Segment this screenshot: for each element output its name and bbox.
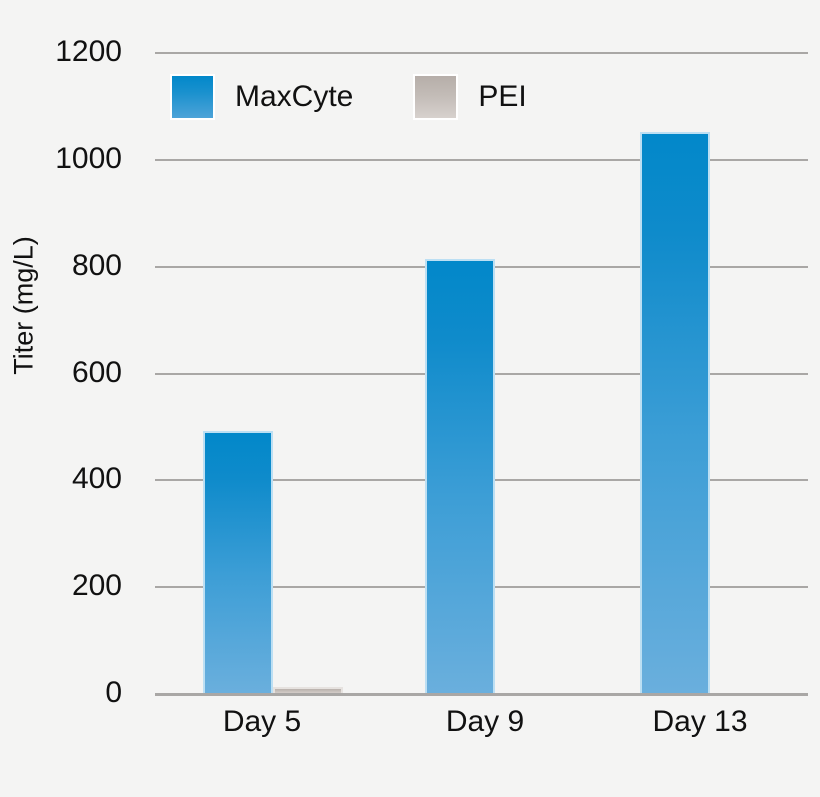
y-tick-label-800: 800 (72, 249, 122, 283)
legend-entry-maxcyte[interactable]: MaxCyte (170, 74, 353, 120)
legend-label-pei: PEI (478, 80, 526, 114)
legend: MaxCyte PEI (170, 74, 527, 120)
bar-maxcyte-day-9 (425, 259, 495, 693)
legend-entry-pei[interactable]: PEI (413, 74, 526, 120)
bar-maxcyte-day-5 (203, 431, 273, 693)
y-tick-label-1000: 1000 (55, 142, 122, 176)
y-tick-label-600: 600 (72, 356, 122, 390)
x-tick-label-day-13: Day 13 (652, 705, 747, 739)
x-tick-label-day-9: Day 9 (446, 705, 524, 739)
y-tick-label-1200: 1200 (55, 35, 122, 69)
bar-pei-day-5 (273, 687, 343, 693)
bar-chart: Titer (mg/L) 0 200 400 600 800 1000 1200… (0, 0, 820, 797)
y-tick-label-0: 0 (105, 676, 122, 710)
legend-swatch-maxcyte-icon (170, 74, 215, 120)
y-tick-label-400: 400 (72, 462, 122, 496)
gridline-0-baseline (155, 693, 808, 696)
legend-swatch-pei-icon (413, 74, 458, 120)
gridline-1000 (155, 159, 808, 161)
legend-label-maxcyte: MaxCyte (235, 80, 353, 114)
gridline-1200 (155, 52, 808, 54)
plot-area (155, 52, 808, 693)
bar-maxcyte-day-13 (640, 132, 710, 693)
y-axis-tick-labels: 0 200 400 600 800 1000 1200 (0, 0, 140, 797)
y-tick-label-200: 200 (72, 569, 122, 603)
x-tick-label-day-5: Day 5 (223, 705, 301, 739)
